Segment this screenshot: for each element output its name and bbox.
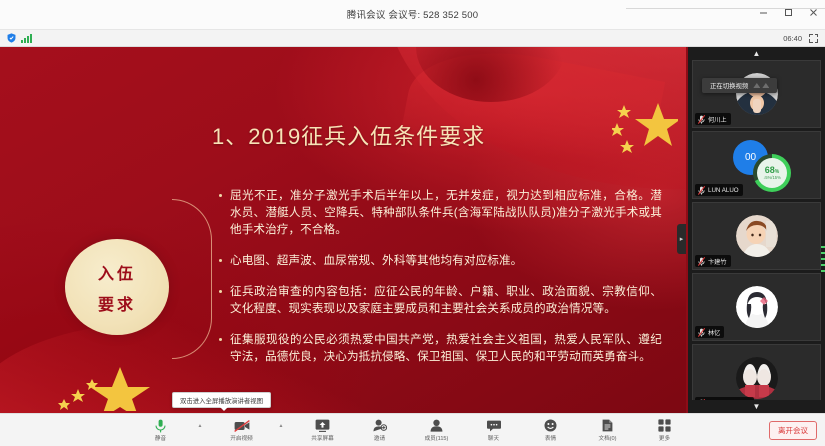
stat-percent-unit: % (775, 169, 779, 175)
bullet-item: 屈光不正，准分子激光手术后半年以上，无并发症，视力达到相应标准，合格。潜水员、潜… (219, 187, 662, 238)
mute-options-caret[interactable]: ▲ (198, 423, 205, 429)
bullet-item: 征集服现役的公民必须热爱中国共产党，热爱社会主义祖国，热爱人民军队、遵纪守法，品… (219, 331, 662, 365)
share-screen-icon (315, 418, 330, 433)
window-title: 腾讯会议 会议号: 528 352 500 (347, 7, 478, 21)
control-label: 聊天 (488, 434, 499, 442)
bullet-item: 心电图、超声波、血尿常规、外科等其他均有对应标准。 (219, 252, 662, 269)
participant-tile[interactable]: 00 68% ↓5%/15% (692, 131, 821, 199)
bullet-dot-icon (219, 259, 222, 262)
status-bar-left (0, 33, 32, 43)
participant-name: 林忆 (708, 328, 720, 337)
participant-name: LUN ALUO (708, 187, 739, 194)
participant-tile[interactable]: 何川上 (692, 60, 821, 128)
bullet-text: 心电图、超声波、血尿常规、外科等其他均有对应标准。 (230, 252, 522, 269)
control-button-group: 静音 ▲ 开启视频 ▲ (141, 418, 685, 442)
collapse-filmstrip-button[interactable]: ▸ (677, 224, 686, 254)
invite-icon (373, 418, 387, 433)
star-cluster-icon (612, 99, 678, 159)
control-label: 文档(0) (598, 434, 616, 442)
bullet-text: 征集服现役的公民必须热爱中国共产党，热爱社会主义祖国，热爱人民军队、遵纪守法，品… (230, 331, 662, 365)
bullet-dot-icon (219, 290, 222, 293)
apps-icon (658, 418, 671, 433)
slide-badge: 入伍 要求 (65, 239, 169, 335)
bullet-dot-icon (219, 194, 222, 197)
participant-name-badge: 古平11002问题 (695, 397, 754, 400)
signal-strength-icon[interactable] (21, 34, 32, 43)
stat-percent-ring: 68% ↓5%/15% (753, 154, 791, 192)
window-title-bar: 腾讯会议 会议号: 528 352 500 (0, 0, 825, 30)
bullet-dot-icon (219, 338, 222, 341)
audio-level-indicator (821, 246, 825, 272)
mic-muted-icon (698, 328, 705, 337)
stat-sub-label: ↓5%/15% (763, 176, 781, 180)
mic-muted-icon (698, 186, 705, 195)
bullet-text: 征兵政治审查的内容包括：应征公民的年龄、户籍、职业、政治面貌、宗教信仰、文化程度… (230, 283, 662, 317)
filmstrip-scroll-up[interactable]: ▲ (688, 47, 825, 60)
stat-percent-number: 68 (765, 165, 775, 175)
chevron-down-icon: ▼ (753, 402, 761, 411)
participant-tile-list: 何川上 00 68% ↓5%/15% (688, 60, 825, 400)
decorative-brace (172, 199, 212, 359)
participant-name-badge: 林忆 (695, 326, 724, 338)
minimize-button[interactable] (757, 6, 769, 18)
emoji-icon (544, 418, 557, 433)
badge-line-2: 要求 (98, 291, 136, 315)
video-button[interactable]: 开启视频 (222, 418, 262, 442)
slide-hint-tooltip: 双击进入全屏播放演讲者视图 (172, 392, 271, 408)
participants-button[interactable]: 成员(115) (417, 418, 457, 442)
badge-line-1: 入伍 (98, 260, 136, 284)
chevron-right-icon: ▸ (680, 235, 684, 243)
participant-tile[interactable]: 林忆 (692, 273, 821, 341)
mute-button[interactable]: 静音 (141, 418, 181, 442)
tooltip-text: 正在切换视频 (710, 81, 748, 90)
meeting-status-bar: 06:40 (0, 30, 825, 47)
more-apps-button[interactable]: 更多 (645, 418, 685, 442)
fullscreen-icon[interactable] (809, 34, 818, 43)
participant-tile[interactable]: 古平11002问题 (692, 344, 821, 400)
invite-button[interactable]: 邀请 (360, 418, 400, 442)
slide-title: 1、2019征兵入伍条件要求 (212, 119, 485, 151)
stat-ring-inner: 68% ↓5%/15% (757, 158, 787, 188)
maximize-button[interactable] (782, 6, 794, 18)
participant-name-badge: 何川上 (695, 113, 731, 125)
meeting-timer: 06:40 (783, 34, 802, 43)
chevron-up-icon: ▲ (753, 49, 761, 58)
control-label: 静音 (155, 434, 166, 442)
participant-name: 卞建竹 (708, 257, 727, 266)
participant-filmstrip: ▲ (686, 47, 825, 413)
avatar (736, 215, 778, 257)
participants-icon (430, 418, 443, 433)
star-cluster-bottom-icon (58, 359, 168, 411)
status-bar-right: 06:40 (783, 34, 825, 43)
chat-icon (487, 418, 501, 433)
filmstrip-scroll-down[interactable]: ▼ (688, 400, 825, 413)
participant-name: 何川上 (708, 115, 727, 124)
presentation-slide: 1、2019征兵入伍条件要求 入伍 要求 屈光不正，准分子激光手术后半年以上，无… (0, 47, 686, 413)
microphone-icon (155, 418, 166, 433)
video-off-icon (234, 418, 250, 433)
shared-screen-stage[interactable]: 1、2019征兵入伍条件要求 入伍 要求 屈光不正，准分子激光手术后半年以上，无… (0, 47, 686, 413)
mic-muted-icon (698, 399, 705, 401)
video-switch-tooltip: 正在切换视频 (702, 78, 777, 93)
window-controls (757, 6, 819, 18)
meeting-control-bar: 静音 ▲ 开启视频 ▲ (0, 413, 825, 446)
loading-dots-icon (753, 83, 769, 88)
participant-tile[interactable]: 卞建竹 (692, 202, 821, 270)
avatar (736, 286, 778, 328)
avatar (736, 357, 778, 399)
control-label: 共享屏幕 (311, 434, 333, 442)
control-label: 更多 (659, 434, 670, 442)
share-screen-button[interactable]: 共享屏幕 (303, 418, 343, 442)
slide-bullet-list: 屈光不正，准分子激光手术后半年以上，无并发症，视力达到相应标准，合格。潜水员、潜… (219, 187, 662, 379)
participant-name: 古平11002问题 (708, 399, 750, 401)
document-icon (602, 418, 613, 433)
bullet-text: 屈光不正，准分子激光手术后半年以上，无并发症，视力达到相应标准，合格。潜水员、潜… (230, 187, 662, 238)
participant-name-badge: LUN ALUO (695, 184, 743, 196)
mic-muted-icon (698, 257, 705, 266)
control-label: 邀请 (374, 434, 385, 442)
shield-icon[interactable] (7, 33, 16, 43)
control-label: 表情 (545, 434, 556, 442)
meeting-app-window: 腾讯会议 会议号: 528 352 500 06:40 (0, 0, 825, 446)
stat-percent-value: 68% (765, 166, 779, 175)
chat-button[interactable]: 聊天 (474, 418, 514, 442)
control-label: 成员(115) (425, 434, 449, 442)
mic-muted-icon (698, 115, 705, 124)
leave-meeting-button[interactable]: 离开会议 (769, 421, 817, 440)
emoji-button[interactable]: 表情 (531, 418, 571, 442)
documents-button[interactable]: 文档(0) (588, 418, 628, 442)
participant-name-badge: 卞建竹 (695, 255, 731, 267)
control-label: 开启视频 (230, 434, 252, 442)
video-options-caret[interactable]: ▲ (279, 423, 286, 429)
close-button[interactable] (807, 6, 819, 18)
bullet-item: 征兵政治审查的内容包括：应征公民的年龄、户籍、职业、政治面貌、宗教信仰、文化程度… (219, 283, 662, 317)
